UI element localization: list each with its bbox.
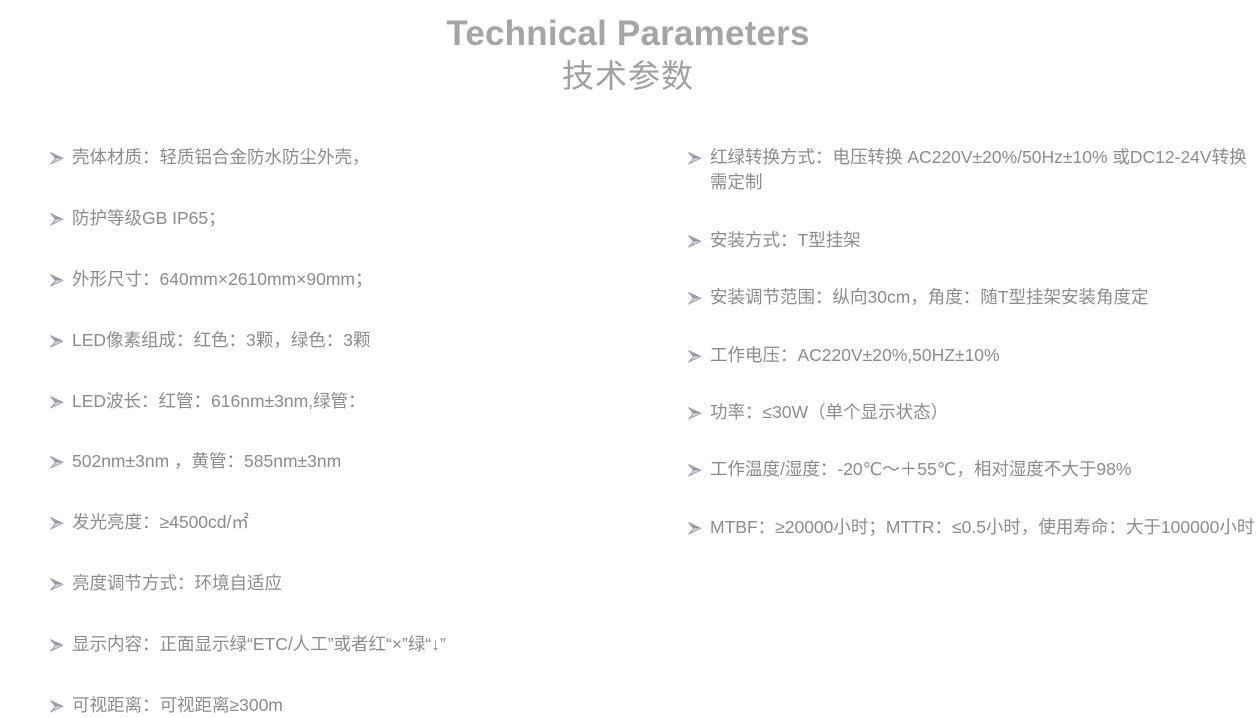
spec-item-text: 发光亮度：≥4500cd/㎡ (72, 510, 650, 535)
spec-item-text: 可视距离：可视距离≥300m (72, 693, 650, 718)
spec-list-item: 功率：≤30W（单个显示状态） (688, 400, 1256, 425)
spec-list-item: 红绿转换方式：电压转换 AC220V±20%/50Hz±10% 或DC12-24… (688, 145, 1256, 196)
spec-item-text: 外形尺寸：640mm×2610mm×90mm； (72, 267, 650, 292)
spec-item-text: 防护等级GB IP65； (72, 206, 650, 231)
specification-columns: 壳体材质：轻质铝合金防水防尘外壳，防护等级GB IP65；外形尺寸：640mm×… (0, 145, 1256, 718)
spec-list-item: 安装调节范围：纵向30cm，角度：随T型挂架安装角度定 (688, 285, 1256, 310)
arrow-head-bullet-icon (50, 456, 72, 469)
arrow-head-bullet-icon (688, 292, 710, 305)
spec-list-item: 亮度调节方式：环境自适应 (50, 571, 650, 596)
spec-list-item: 可视距离：可视距离≥300m (50, 693, 650, 718)
spec-item-text: 工作温度/湿度：-20℃～＋55℃，相对湿度不大于98% (710, 457, 1256, 482)
spec-list-item: LED波长：红管：616nm±3nm,绿管： (50, 389, 650, 414)
spec-item-text: 安装调节范围：纵向30cm，角度：随T型挂架安装角度定 (710, 285, 1256, 310)
spec-list-item: 工作温度/湿度：-20℃～＋55℃，相对湿度不大于98% (688, 457, 1256, 482)
page-title-chinese: 技术参数 (0, 56, 1256, 98)
arrow-head-bullet-icon (688, 522, 710, 535)
spec-item-text: 红绿转换方式：电压转换 AC220V±20%/50Hz±10% 或DC12-24… (710, 145, 1256, 196)
spec-item-text: LED波长：红管：616nm±3nm,绿管： (72, 389, 650, 414)
arrow-head-bullet-icon (50, 274, 72, 287)
page-header: Technical Parameters 技术参数 (0, 0, 1256, 98)
spec-column-left: 壳体材质：轻质铝合金防水防尘外壳，防护等级GB IP65；外形尺寸：640mm×… (0, 145, 650, 718)
arrow-head-bullet-icon (50, 213, 72, 226)
arrow-head-bullet-icon (50, 517, 72, 530)
spec-list-item: 壳体材质：轻质铝合金防水防尘外壳， (50, 145, 650, 170)
arrow-head-bullet-icon (50, 335, 72, 348)
spec-list-item: 防护等级GB IP65； (50, 206, 650, 231)
arrow-head-bullet-icon (688, 235, 710, 248)
spec-item-text: 显示内容：正面显示绿“ETC/人工”或者红“×”绿“↓” (72, 632, 650, 657)
spec-column-right: 红绿转换方式：电压转换 AC220V±20%/50Hz±10% 或DC12-24… (650, 145, 1256, 540)
arrow-head-bullet-icon (688, 407, 710, 420)
arrow-head-bullet-icon (50, 396, 72, 409)
arrow-head-bullet-icon (688, 152, 710, 165)
spec-list-item: MTBF：≥20000小时；MTTR：≤0.5小时，使用寿命：大于100000小… (688, 515, 1256, 540)
spec-list-item: 外形尺寸：640mm×2610mm×90mm； (50, 267, 650, 292)
spec-item-text: 安装方式：T型挂架 (710, 228, 1256, 253)
spec-list-item: 工作电压：AC220V±20%,50HZ±10% (688, 343, 1256, 368)
spec-item-text: MTBF：≥20000小时；MTTR：≤0.5小时，使用寿命：大于100000小… (710, 515, 1256, 540)
spec-item-text: 壳体材质：轻质铝合金防水防尘外壳， (72, 145, 650, 170)
spec-list-item: 显示内容：正面显示绿“ETC/人工”或者红“×”绿“↓” (50, 632, 650, 657)
arrow-head-bullet-icon (50, 578, 72, 591)
spec-item-text: 亮度调节方式：环境自适应 (72, 571, 650, 596)
spec-item-text: 工作电压：AC220V±20%,50HZ±10% (710, 343, 1256, 368)
spec-list-item: LED像素组成：红色：3颗，绿色：3颗 (50, 328, 650, 353)
spec-list-item: 502nm±3nm ，黄管：585nm±3nm (50, 449, 650, 474)
spec-list-item: 发光亮度：≥4500cd/㎡ (50, 510, 650, 535)
arrow-head-bullet-icon (50, 639, 72, 652)
page-title-english: Technical Parameters (0, 13, 1256, 54)
spec-item-text: 502nm±3nm ，黄管：585nm±3nm (72, 449, 650, 474)
arrow-head-bullet-icon (50, 152, 72, 165)
spec-list-item: 安装方式：T型挂架 (688, 228, 1256, 253)
arrow-head-bullet-icon (688, 464, 710, 477)
arrow-head-bullet-icon (688, 350, 710, 363)
spec-item-text: 功率：≤30W（单个显示状态） (710, 400, 1256, 425)
spec-item-text: LED像素组成：红色：3颗，绿色：3颗 (72, 328, 650, 353)
